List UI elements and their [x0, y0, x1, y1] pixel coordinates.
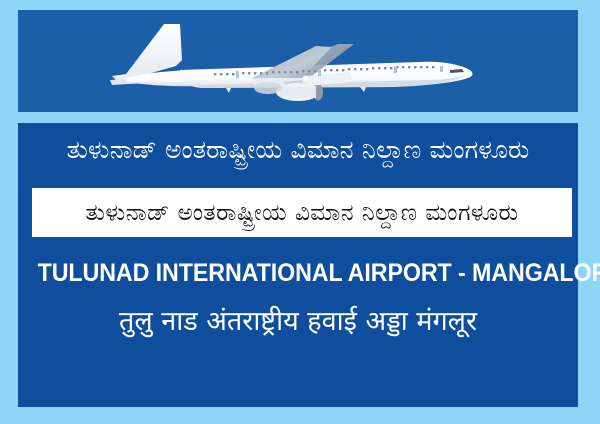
airport-name-panel: ತುಳುನಾಡ್ ಅಂತರಾಷ್ಟ್ರೀಯ ವಿಮಾನ ನಿಲ್ದಾಣ ಮಂಗಳ… [18, 123, 578, 407]
aircraft-illustration [18, 10, 578, 112]
tulu-script-box: ತುಳುನಾಡ್ ಅಂತರಾಷ್ಟ್ರೀಯ ವಿಮಾನ ನಿಲ್ದಾಣ ಮಂಗಳ… [32, 188, 572, 237]
aircraft-photo-panel [18, 10, 578, 112]
airport-name-english: TULUNAD INTERNATIONAL AIRPORT - MANGALOR… [38, 257, 559, 289]
airport-name-hindi: तुलु नाड अंतराष्ट्रीय हवाई अड्डा मंगलूर [18, 303, 578, 341]
airport-name-kannada: ತುಳುನಾಡ್ ಅಂತರಾಷ್ಟ್ರೀಯ ವಿಮಾನ ನಿಲ್ದಾಣ ಮಂಗಳ… [18, 133, 578, 167]
airplane-icon [102, 16, 492, 108]
airport-sign: ತುಳುನಾಡ್ ಅಂತರಾಷ್ಟ್ರೀಯ ವಿಮಾನ ನಿಲ್ದಾಣ ಮಂಗಳ… [0, 0, 600, 424]
airport-name-tulu: ತುಳುನಾಡ್ ಅಂತರಾಷ್ಟ್ರೀಯ ವಿಮಾನ ನಿಲ್ದಾಣ ಮಂಗಳ… [85, 198, 518, 228]
